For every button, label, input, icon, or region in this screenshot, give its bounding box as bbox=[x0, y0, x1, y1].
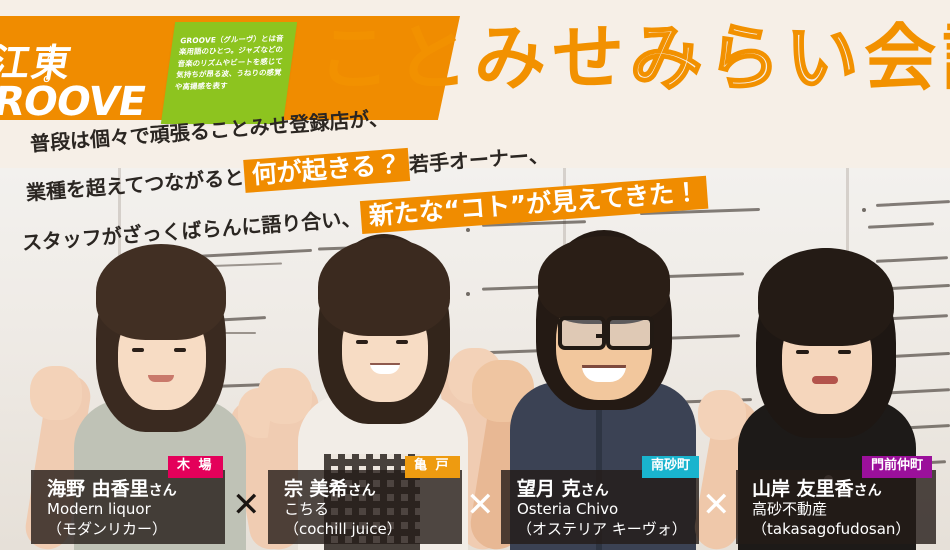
eye bbox=[838, 350, 851, 354]
person-name-3: 望月 克さん bbox=[517, 478, 699, 500]
title-char: ら bbox=[708, 16, 786, 100]
logo-kanji: 江東 bbox=[0, 44, 75, 82]
person-name-2: 宗 美希さん bbox=[284, 478, 462, 500]
person-shop-reading-1: （モダンリカー） bbox=[47, 520, 225, 540]
person-honorific: さん bbox=[854, 483, 882, 499]
person-name-text: 宗 美希 bbox=[284, 478, 348, 500]
title-char: せ bbox=[552, 16, 630, 100]
mouth bbox=[812, 376, 838, 384]
caption-card-1: 海野 由香里さん Modern liquor （モダンリカー） bbox=[31, 470, 225, 544]
title-char: 会 bbox=[864, 16, 942, 100]
caption-card-3: 望月 克さん Osteria Chivo （オステリア キーヴォ） bbox=[501, 470, 699, 544]
eye bbox=[174, 348, 186, 352]
separator-x-1: ✕ bbox=[232, 488, 261, 522]
separator-x-3: ✕ bbox=[702, 488, 731, 522]
whiteboard-bullet bbox=[862, 208, 866, 212]
eye bbox=[796, 350, 809, 354]
eyeglasses-left bbox=[558, 316, 606, 350]
caption-card-4: 山岸 友里香さん 高砂不動産 （takasagofudosan） bbox=[736, 470, 936, 544]
person-name-text: 海野 由香里 bbox=[47, 478, 149, 500]
title-char: こ bbox=[318, 16, 396, 100]
eye bbox=[132, 348, 144, 352]
fist bbox=[698, 390, 746, 440]
separator-x-2: ✕ bbox=[466, 488, 495, 522]
person-name-4: 山岸 友里香さん bbox=[752, 478, 936, 500]
person-shop-1: Modern liquor bbox=[47, 500, 225, 520]
area-badge-2: 亀 戸 bbox=[405, 456, 460, 478]
page-title: ことみせみらい会議 bbox=[318, 22, 950, 94]
title-char: い bbox=[786, 16, 864, 100]
hair-top bbox=[758, 248, 894, 346]
person-shop-4: 高砂不動産 bbox=[752, 500, 936, 520]
person-name-1: 海野 由香里さん bbox=[47, 478, 225, 500]
eye bbox=[356, 340, 368, 344]
area-badge-4: 門前仲町 bbox=[862, 456, 932, 478]
eyeglasses-right bbox=[606, 316, 654, 350]
area-badge-3: 南砂町 bbox=[642, 456, 699, 478]
eye bbox=[396, 340, 408, 344]
person-shop-3: Osteria Chivo bbox=[517, 500, 699, 520]
title-char: み bbox=[630, 16, 708, 100]
poster-root: 江東 KOTO GROOVE GROOVE（グルーヴ）とは音楽用語のひとつ。ジャ… bbox=[0, 0, 950, 550]
eyeglasses-bridge bbox=[596, 334, 608, 338]
caption-card-2: 宗 美希さん こちる （cochill juice） bbox=[268, 470, 462, 544]
person-honorific: さん bbox=[348, 483, 376, 499]
person-shop-reading-3: （オステリア キーヴォ） bbox=[517, 520, 699, 540]
hair-top bbox=[538, 236, 670, 324]
hair-top bbox=[318, 238, 450, 336]
area-badge-1: 木 場 bbox=[168, 456, 223, 478]
mouth bbox=[148, 375, 174, 382]
subtitle-text: 若手オーナー、 bbox=[408, 143, 549, 177]
fist bbox=[258, 368, 312, 424]
person-shop-reading-2: （cochill juice） bbox=[284, 520, 462, 540]
person-name-text: 望月 克 bbox=[517, 478, 581, 500]
groove-definition-text: GROOVE（グルーヴ）とは音楽用語のひとつ。ジャズなどの音楽のリズムやビートを… bbox=[166, 29, 296, 93]
title-char: み bbox=[474, 16, 552, 100]
logo-wordmark: GROOVE bbox=[0, 82, 148, 122]
person-shop-2: こちる bbox=[284, 500, 462, 520]
title-char: 議 bbox=[942, 16, 950, 100]
person-honorific: さん bbox=[149, 483, 177, 499]
person-shop-reading-4: （takasagofudosan） bbox=[752, 520, 936, 540]
title-char: と bbox=[396, 16, 474, 100]
person-name-text: 山岸 友里香 bbox=[752, 478, 854, 500]
hair-top bbox=[96, 244, 226, 340]
person-honorific: さん bbox=[581, 483, 609, 499]
fist bbox=[30, 366, 82, 420]
